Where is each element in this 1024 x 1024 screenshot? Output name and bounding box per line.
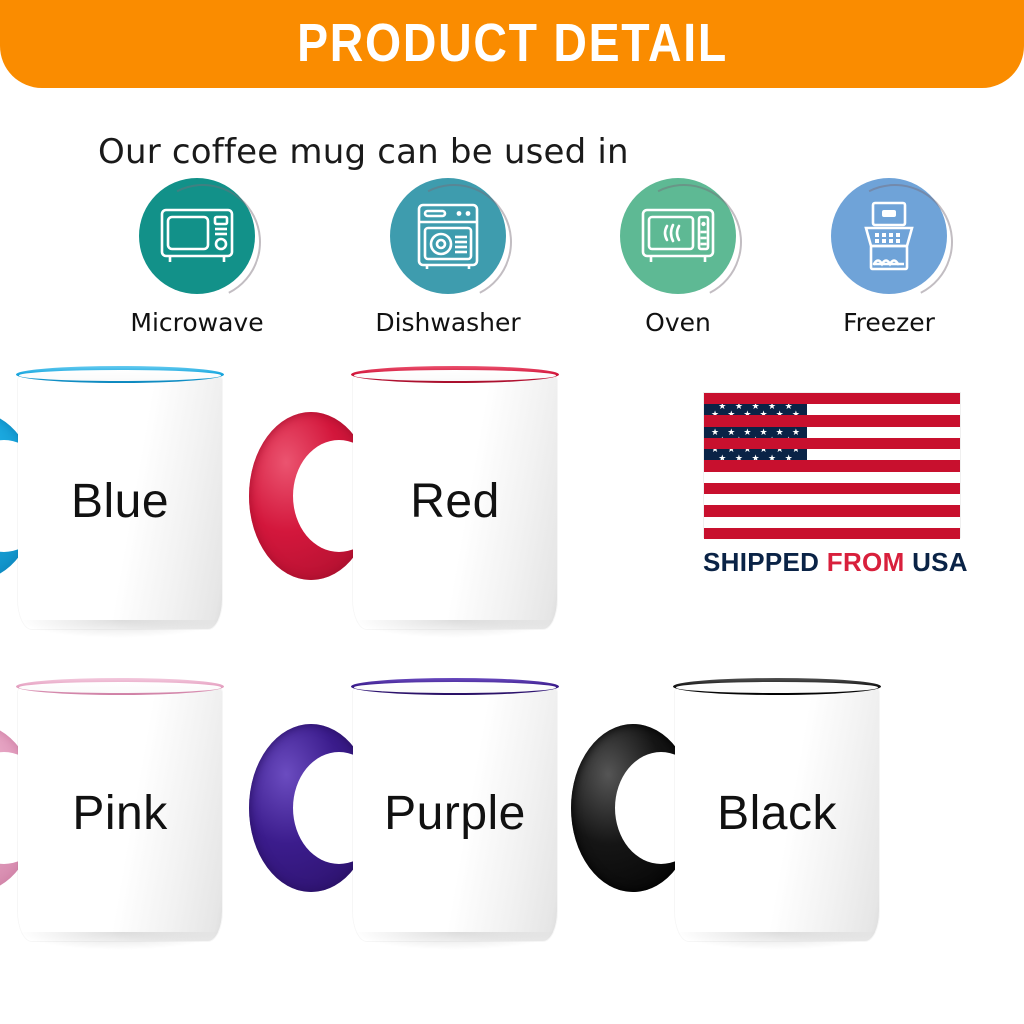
feature-label: Microwave bbox=[97, 308, 297, 337]
flag-stripe bbox=[704, 528, 960, 539]
feature-ring bbox=[831, 178, 947, 294]
intro-text: Our coffee mug can be used in bbox=[98, 132, 629, 172]
shipped-from-usa-text: SHIPPED FROM USA bbox=[703, 547, 961, 578]
feature-freezer: Freezer bbox=[789, 178, 989, 337]
feature-label: Dishwasher bbox=[348, 308, 548, 337]
feature-label: Oven bbox=[578, 308, 778, 337]
mug-color-label: Red bbox=[353, 374, 557, 629]
feature-microwave: Microwave bbox=[97, 178, 297, 337]
flag-stripe bbox=[704, 460, 960, 471]
flag-stripe bbox=[704, 438, 960, 449]
flag-star: ★ bbox=[760, 428, 768, 437]
microwave-icon bbox=[139, 178, 255, 294]
feature-dishwasher: Dishwasher bbox=[348, 178, 548, 337]
from-word: FROM bbox=[827, 547, 905, 577]
mug-color-label: Blue bbox=[18, 374, 222, 629]
page-title: PRODUCT DETAIL bbox=[297, 16, 728, 70]
feature-label: Freezer bbox=[789, 308, 989, 337]
shipped-from-usa-badge: ★★★★★★★★★★★★★★★★★★★★★★★★★★★★★★★★★★★★★★★★… bbox=[703, 392, 961, 578]
flag-stripe bbox=[704, 505, 960, 516]
freezer-icon bbox=[831, 178, 947, 294]
mug-color-label: Black bbox=[675, 686, 879, 941]
feature-ring bbox=[390, 178, 506, 294]
feature-icon-row: Microwave bbox=[0, 178, 1024, 338]
usa-flag-icon: ★★★★★★★★★★★★★★★★★★★★★★★★★★★★★★★★★★★★★★★★… bbox=[703, 392, 961, 538]
mug-color-label: Purple bbox=[353, 686, 557, 941]
feature-oven: Oven bbox=[578, 178, 778, 337]
dishwasher-icon bbox=[390, 178, 506, 294]
usa-word: USA bbox=[912, 547, 968, 577]
oven-icon bbox=[620, 178, 736, 294]
flag-star: ★ bbox=[792, 428, 800, 437]
mug-color-label: Pink bbox=[18, 686, 222, 941]
flag-star: ★ bbox=[776, 428, 784, 437]
shipped-word: SHIPPED bbox=[703, 547, 819, 577]
product-detail-banner: PRODUCT DETAIL bbox=[0, 0, 1024, 88]
flag-star: ★ bbox=[743, 428, 751, 437]
feature-ring bbox=[139, 178, 255, 294]
flag-stripe bbox=[704, 483, 960, 494]
flag-stripe bbox=[704, 393, 960, 404]
feature-ring bbox=[620, 178, 736, 294]
flag-stripe bbox=[704, 415, 960, 426]
